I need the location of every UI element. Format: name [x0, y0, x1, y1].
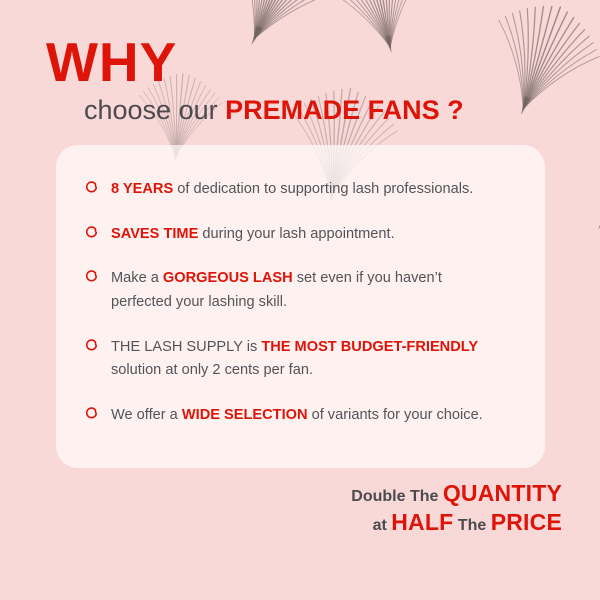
benefit-item: Make a GORGEOUS LASH set even if you hav… — [84, 267, 544, 314]
benefit-text: of dedication to supporting lash profess… — [173, 181, 473, 197]
page-title: WHY — [46, 36, 464, 90]
tagline-text: Double The — [351, 488, 443, 505]
benefit-text: of variants for your choice. — [308, 407, 483, 423]
benefit-text-line: THE LASH SUPPLY is THE MOST BUDGET-FRIEN… — [111, 336, 544, 360]
benefit-text-line: 8 YEARS of dedication to supporting lash… — [111, 178, 544, 202]
tagline-highlight: PRICE — [491, 509, 562, 535]
benefit-text: Make a — [111, 270, 163, 286]
tagline-highlight: HALF — [391, 509, 453, 535]
benefit-text-line: We offer a WIDE SELECTION of variants fo… — [111, 404, 544, 428]
benefit-text-line: solution at only 2 cents per fan. — [111, 359, 544, 383]
tagline-text: The — [453, 517, 490, 534]
benefit-text: perfected your lashing skill. — [111, 294, 287, 310]
benefit-text: THE LASH SUPPLY is — [111, 339, 261, 355]
poster-canvas: WHY choose our PREMADE FANS ? 8 YEARS of… — [0, 0, 600, 600]
benefit-item: We offer a WIDE SELECTION of variants fo… — [84, 404, 544, 428]
benefit-text-line: Make a GORGEOUS LASH set even if you hav… — [111, 267, 544, 291]
benefit-text: We offer a — [111, 407, 182, 423]
benefit-item: THE LASH SUPPLY is THE MOST BUDGET-FRIEN… — [84, 336, 544, 383]
benefit-highlight: THE MOST BUDGET-FRIENDLY — [261, 339, 478, 355]
benefit-highlight: WIDE SELECTION — [182, 407, 308, 423]
benefit-highlight: GORGEOUS LASH — [163, 270, 293, 286]
refresh-icon — [84, 269, 99, 284]
tagline-line-1: Double The QUANTITY — [351, 479, 562, 508]
headline-block: WHY choose our PREMADE FANS ? — [46, 36, 464, 126]
headline-subtitle: choose our PREMADE FANS ? — [84, 96, 464, 126]
benefit-text-line: SAVES TIME during your lash appointment. — [111, 223, 544, 247]
benefit-item: 8 YEARS of dedication to supporting lash… — [84, 178, 544, 202]
tagline-block: Double The QUANTITY at HALF The PRICE — [351, 479, 562, 538]
benefit-item: SAVES TIME during your lash appointment. — [84, 223, 544, 247]
benefit-highlight: 8 YEARS — [111, 181, 173, 197]
tagline-line-2: at HALF The PRICE — [351, 508, 562, 537]
benefit-text: during your lash appointment. — [198, 226, 394, 242]
refresh-icon — [84, 225, 99, 240]
refresh-icon — [84, 338, 99, 353]
refresh-icon — [84, 406, 99, 421]
benefits-list: 8 YEARS of dedication to supporting lash… — [84, 178, 544, 427]
benefit-text-line: perfected your lashing skill. — [111, 291, 544, 315]
refresh-icon — [84, 180, 99, 195]
headline-subtitle-plain: choose our — [84, 95, 218, 125]
benefit-highlight: SAVES TIME — [111, 226, 198, 242]
tagline-highlight: QUANTITY — [443, 480, 562, 506]
tagline-text: at — [373, 517, 392, 534]
benefit-text: set even if you haven’t — [293, 270, 442, 286]
benefit-text: solution at only 2 cents per fan. — [111, 362, 313, 378]
headline-subtitle-highlight: PREMADE FANS ? — [225, 95, 464, 125]
